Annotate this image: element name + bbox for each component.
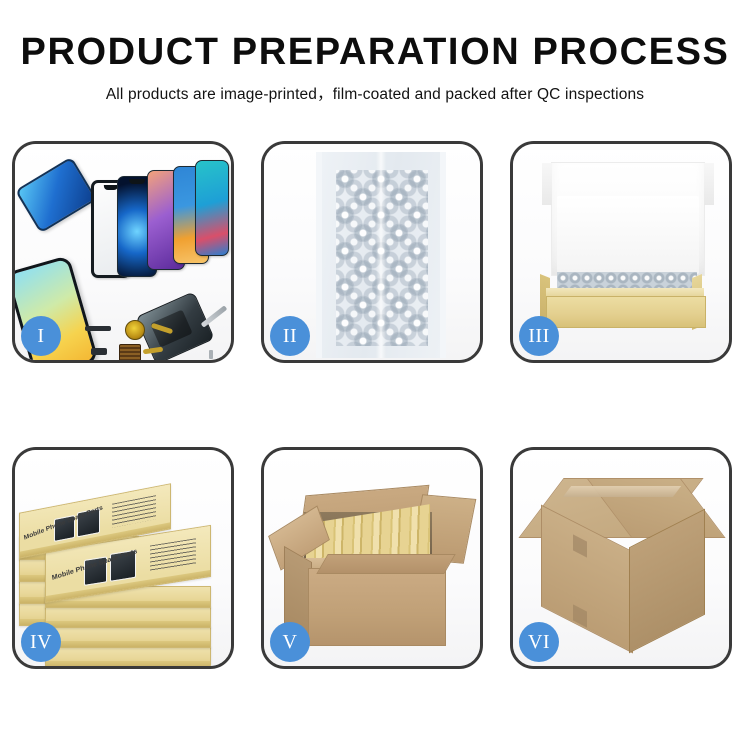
process-step-6: VI	[510, 447, 732, 669]
stacked-box	[45, 606, 211, 628]
part-screw-icon	[209, 350, 213, 359]
box-edge	[46, 601, 210, 607]
foam-sheet-icon	[557, 196, 699, 274]
part-chip-icon	[119, 344, 141, 360]
box-front-panel	[546, 296, 706, 328]
wrap-seam	[376, 152, 386, 358]
stacked-box	[45, 626, 211, 648]
part-connector-icon	[91, 348, 107, 355]
step-badge-4: IV	[21, 622, 61, 662]
carton-front	[308, 568, 446, 646]
process-step-2: II	[261, 141, 483, 363]
phone-teal-icon	[195, 160, 229, 256]
page-title: PRODUCT PREPARATION PROCESS	[0, 33, 750, 73]
bubble-wrap-pouch-icon	[316, 152, 446, 358]
process-step-3: III	[510, 141, 732, 363]
process-step-grid: I II III	[12, 141, 738, 669]
process-step-1: I	[12, 141, 234, 363]
box-edge	[46, 661, 210, 666]
part-speaker-coil-icon	[125, 320, 145, 340]
page-subtitle: All products are image-printed，film-coat…	[0, 82, 750, 104]
carton-flap-front	[316, 554, 456, 574]
part-screw-icon	[217, 358, 221, 360]
infographic-page: PRODUCT PREPARATION PROCESS All products…	[0, 0, 750, 750]
process-step-5: V	[261, 447, 483, 669]
box-edge	[46, 641, 210, 647]
step-badge-2: II	[270, 316, 310, 356]
step-badge-1: I	[21, 316, 61, 356]
stacked-box	[45, 646, 211, 666]
notch-icon	[129, 179, 145, 184]
step-badge-6: VI	[519, 622, 559, 662]
step-badge-3: III	[519, 316, 559, 356]
box-edge	[46, 621, 210, 627]
process-step-4: Mobile Phone Spare Parts Mobile Phone Sp…	[12, 447, 234, 669]
step-badge-5: V	[270, 622, 310, 662]
notch-icon	[104, 185, 118, 190]
header: PRODUCT PREPARATION PROCESS All products…	[0, 0, 750, 104]
carton-tape-icon	[563, 486, 681, 497]
part-bracket-icon	[85, 326, 111, 331]
phone-fan-icon	[73, 166, 223, 286]
